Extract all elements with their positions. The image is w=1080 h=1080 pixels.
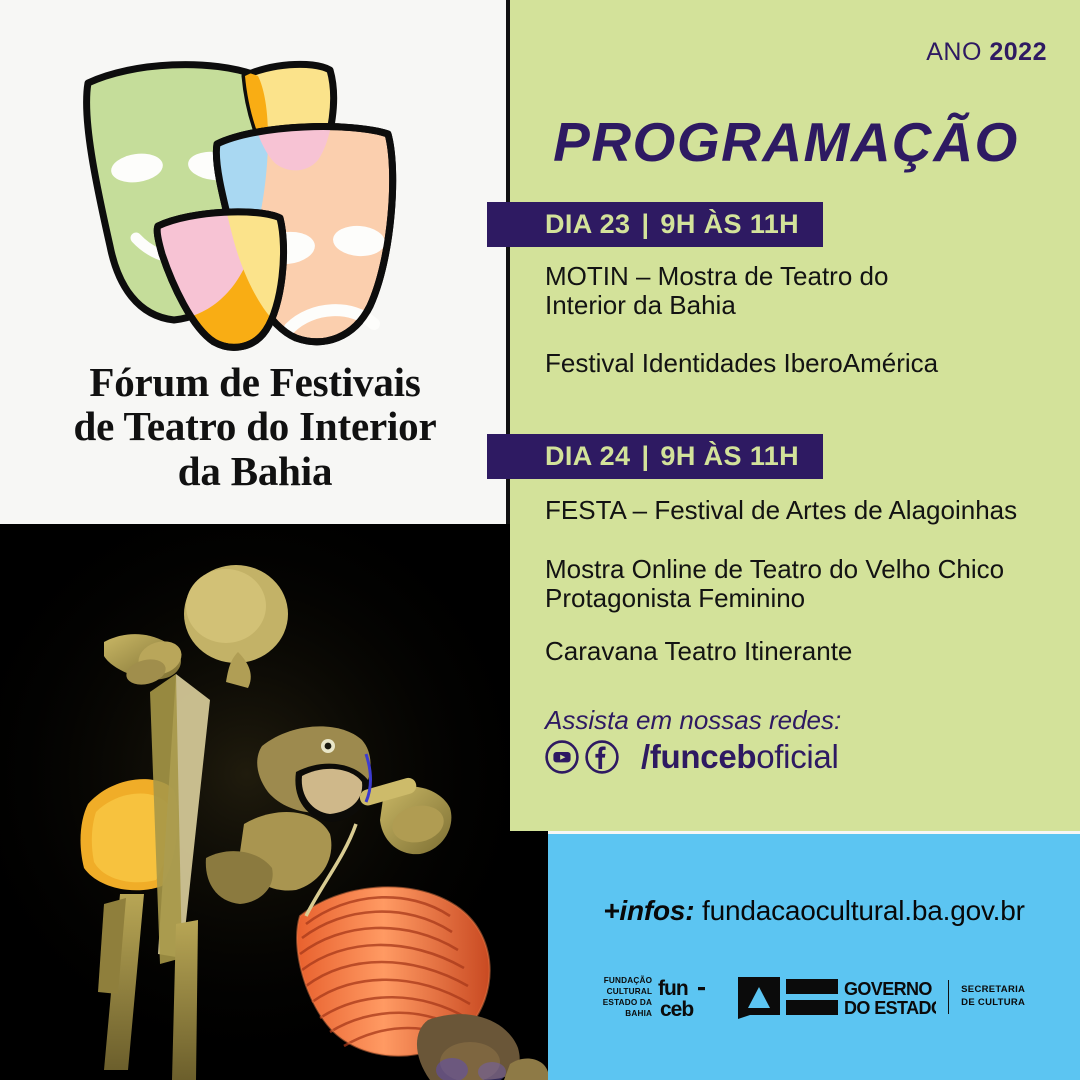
svg-text:ceb: ceb — [660, 998, 693, 1020]
funceb-line-2: CULTURAL — [603, 986, 652, 997]
year-value: 2022 — [989, 38, 1047, 66]
brand-title-line-2: de Teatro do Interior — [0, 404, 510, 448]
social-handle-bold: /funceb — [641, 738, 756, 775]
theater-masks-icon — [62, 48, 407, 353]
svg-text:fun: fun — [658, 977, 688, 1000]
social-handle-tail: oficial — [756, 738, 838, 775]
day-time-23: 9H ÀS 11H — [660, 209, 799, 240]
puppet-theatre-stage-photo — [0, 524, 548, 1080]
secretaria-de-cultura-text: SECRETARIA DE CULTURA — [961, 984, 1025, 1010]
event-item: Caravana Teatro Itinerante — [545, 637, 1065, 666]
programme-panel: ANO 2022 PROGRAMAÇÃO DIA 23 | 9H ÀS 11H … — [510, 0, 1080, 831]
day-separator-23: | — [641, 209, 649, 240]
social-handle[interactable]: /funceboficial — [641, 740, 839, 774]
institution-logos: FUNDAÇÃO CULTURAL ESTADO DA BAHIA fun ce… — [548, 974, 1080, 1020]
logo-divider — [948, 980, 949, 1014]
more-info-url[interactable]: fundacaocultural.ba.gov.br — [702, 895, 1025, 926]
secretaria-line-2: DE CULTURA — [961, 997, 1025, 1010]
svg-text:GOVERNO: GOVERNO — [844, 979, 932, 999]
social-links: /funceboficial — [545, 740, 839, 774]
mask-orange — [157, 212, 283, 347]
day-time-24: 9H ÀS 11H — [660, 441, 799, 472]
footer-panel: +infos: fundacaocultural.ba.gov.br FUNDA… — [548, 834, 1080, 1080]
youtube-icon[interactable] — [545, 740, 579, 774]
event-item: MOTIN – Mostra de Teatro do Interior da … — [545, 262, 1065, 321]
page-title: Fórum de Festivais de Teatro do Interior… — [0, 360, 510, 493]
year-label: ANO — [926, 38, 982, 66]
funceb-mark-icon: fun ceb — [658, 974, 706, 1020]
funceb-line-3: ESTADO DA — [603, 997, 652, 1008]
event-item: Mostra Online de Teatro do Velho Chico P… — [545, 555, 1065, 614]
event-item: Festival Identidades IberoAmérica — [545, 349, 1065, 378]
day-banner-24: DIA 24 | 9H ÀS 11H — [487, 434, 823, 479]
brand-title-line-1: Fórum de Festivais — [0, 360, 510, 404]
funceb-line-1: FUNDAÇÃO — [603, 975, 652, 986]
svg-text:DO ESTADO: DO ESTADO — [844, 998, 936, 1018]
funceb-logo-icon: FUNDAÇÃO CULTURAL ESTADO DA BAHIA fun ce… — [603, 974, 706, 1020]
watch-networks-label: Assista em nossas redes: — [545, 705, 841, 736]
more-info-label: +infos: — [603, 895, 694, 926]
day-banner-23: DIA 23 | 9H ÀS 11H — [487, 202, 823, 247]
event-item: FESTA – Festival de Artes de Alagoinhas — [545, 496, 1065, 525]
poster-canvas: Fórum de Festivais de Teatro do Interior… — [0, 0, 1080, 1080]
more-info: +infos: fundacaocultural.ba.gov.br — [548, 895, 1080, 927]
day-label-24: DIA 24 — [545, 441, 630, 472]
day-label-23: DIA 23 — [545, 209, 630, 240]
day-separator-24: | — [641, 441, 649, 472]
year-badge: ANO 2022 — [926, 38, 1047, 67]
governo-mark-icon: GOVERNO DO ESTADO — [736, 975, 936, 1019]
facebook-icon[interactable] — [585, 740, 619, 774]
funceb-wordmark-text: FUNDAÇÃO CULTURAL ESTADO DA BAHIA — [603, 975, 652, 1019]
funceb-line-4: BAHIA — [603, 1008, 652, 1019]
secretaria-line-1: SECRETARIA — [961, 984, 1025, 997]
brand-panel: Fórum de Festivais de Teatro do Interior… — [0, 0, 510, 524]
brand-title-line-3: da Bahia — [0, 449, 510, 493]
governo-do-estado-logo-icon: GOVERNO DO ESTADO SECRETARIA DE CULTURA — [736, 975, 1025, 1019]
programme-heading: PROGRAMAÇÃO — [510, 110, 1080, 174]
